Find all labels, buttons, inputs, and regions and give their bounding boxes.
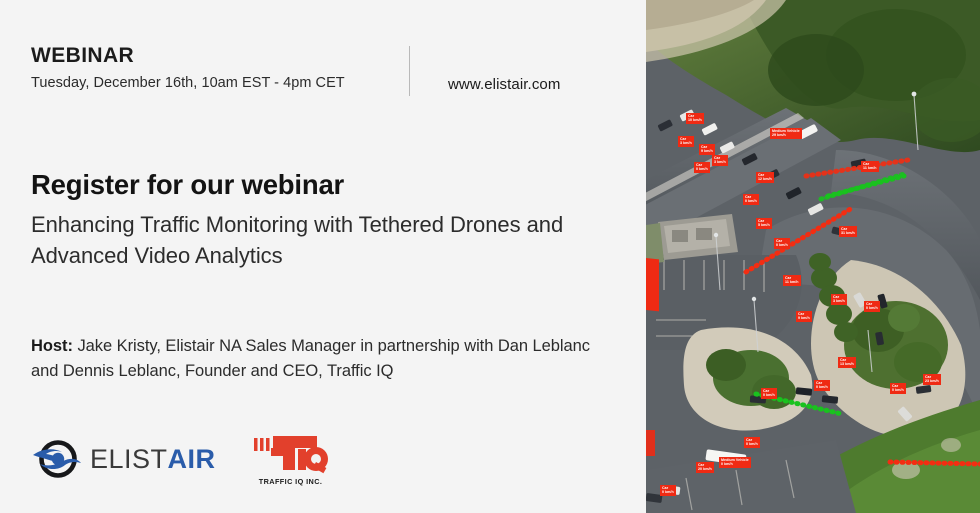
detection-label: Car5 km/h bbox=[756, 218, 772, 229]
detection-speed: 29 km/h bbox=[772, 133, 800, 137]
webinar-promo-poster: WEBINAR Tuesday, December 16th, 10am EST… bbox=[0, 0, 980, 513]
detection-speed: 0 km/h bbox=[745, 199, 757, 203]
detection-speed: 0 km/h bbox=[776, 243, 788, 247]
website-link[interactable]: www.elistair.com bbox=[448, 76, 560, 93]
detection-speed: 0 km/h bbox=[892, 388, 904, 392]
detection-label: Car0 km/h bbox=[890, 383, 906, 394]
detection-speed: 10 km/h bbox=[688, 118, 702, 122]
detection-label: Car0 km/h bbox=[814, 380, 830, 391]
detection-label: Car31 km/h bbox=[839, 226, 857, 237]
detection-speed: 3 km/h bbox=[714, 160, 726, 164]
header-text-group: WEBINAR Tuesday, December 16th, 10am EST… bbox=[31, 44, 409, 91]
elistair-wordmark-blue: AIR bbox=[168, 444, 216, 474]
detection-label: Medium Vehicle0 km/h bbox=[719, 457, 751, 468]
detection-speed: 13 km/h bbox=[840, 362, 854, 366]
detection-speed: 0 km/h bbox=[866, 306, 878, 310]
detection-label: Car0 km/h bbox=[743, 194, 759, 205]
elistair-bird-circle-icon bbox=[31, 433, 83, 485]
headline-block: Register for our webinar Enhancing Traff… bbox=[31, 168, 621, 272]
detection-speed: 11 km/h bbox=[863, 166, 877, 170]
header-divider bbox=[409, 46, 410, 96]
detection-label: Car23 km/h bbox=[923, 374, 941, 385]
detection-speed: 3 km/h bbox=[833, 299, 845, 303]
detection-speed: 11 km/h bbox=[785, 280, 799, 284]
detection-label: Car11 km/h bbox=[783, 275, 801, 286]
traffic-iq-caption: TRAFFIC IQ INC. bbox=[252, 477, 330, 486]
detection-speed: 31 km/h bbox=[841, 231, 855, 235]
left-content-panel: WEBINAR Tuesday, December 16th, 10am EST… bbox=[0, 0, 646, 513]
elistair-logo: ELISTAIR bbox=[31, 433, 216, 485]
detection-label: Car0 km/h bbox=[660, 485, 676, 496]
detection-speed: 9 km/h bbox=[798, 316, 810, 320]
detection-label: Car3 km/h bbox=[831, 294, 847, 305]
detection-speed: 0 km/h bbox=[721, 462, 749, 466]
detection-speed: 0 km/h bbox=[662, 490, 674, 494]
header: WEBINAR Tuesday, December 16th, 10am EST… bbox=[31, 44, 560, 96]
detection-speed: 3 km/h bbox=[680, 141, 692, 145]
elistair-wordmark: ELISTAIR bbox=[90, 446, 216, 473]
detection-speed: 20 km/h bbox=[698, 467, 712, 471]
detection-label: Car0 km/h bbox=[744, 437, 760, 448]
detection-speed: 5 km/h bbox=[758, 223, 770, 227]
detection-speed: 12 km/h bbox=[758, 177, 772, 181]
detection-label: Car9 km/h bbox=[699, 144, 715, 155]
host-label: Host: bbox=[31, 337, 73, 355]
detection-label: Car13 km/h bbox=[838, 357, 856, 368]
detection-label: Car9 km/h bbox=[796, 311, 812, 322]
detection-label: Car10 km/h bbox=[686, 113, 704, 124]
detection-speed: 0 km/h bbox=[696, 167, 708, 171]
detection-label: Car0 km/h bbox=[864, 301, 880, 312]
traffic-iq-icon bbox=[252, 432, 330, 476]
detection-label: Medium Vehicle29 km/h bbox=[770, 128, 802, 139]
webinar-datetime: Tuesday, December 16th, 10am EST - 4pm C… bbox=[31, 75, 409, 91]
aerial-drone-image: Car10 km/hCar3 km/hCar9 km/hCar0 km/hCar… bbox=[646, 0, 980, 513]
detection-label: Car11 km/h bbox=[861, 161, 879, 172]
host-info: Host: Jake Kristy, Elistair NA Sales Man… bbox=[31, 334, 611, 384]
host-names: Jake Kristy, Elistair NA Sales Manager i… bbox=[31, 337, 590, 380]
detection-label: Car3 km/h bbox=[678, 136, 694, 147]
kicker-webinar: WEBINAR bbox=[31, 44, 409, 68]
detection-label: Car12 km/h bbox=[756, 172, 774, 183]
detection-label: Car3 km/h bbox=[712, 155, 728, 166]
detection-label: Car0 km/h bbox=[761, 388, 777, 399]
detection-speed: 23 km/h bbox=[925, 379, 939, 383]
page-title: Register for our webinar bbox=[31, 168, 621, 201]
detection-label: Car20 km/h bbox=[696, 462, 714, 473]
aerial-scene-graphic bbox=[646, 0, 980, 513]
detection-speed: 0 km/h bbox=[816, 385, 828, 389]
page-subtitle: Enhancing Traffic Monitoring with Tether… bbox=[31, 209, 621, 272]
detection-speed: 0 km/h bbox=[746, 442, 758, 446]
detection-label: Car0 km/h bbox=[694, 162, 710, 173]
traffic-iq-logo: TRAFFIC IQ INC. bbox=[252, 432, 330, 486]
detection-speed: 0 km/h bbox=[763, 393, 775, 397]
detection-speed: 9 km/h bbox=[701, 149, 713, 153]
logo-row: ELISTAIR bbox=[31, 432, 330, 486]
detection-label: Car0 km/h bbox=[774, 238, 790, 249]
elistair-wordmark-dark: ELIST bbox=[90, 444, 168, 474]
